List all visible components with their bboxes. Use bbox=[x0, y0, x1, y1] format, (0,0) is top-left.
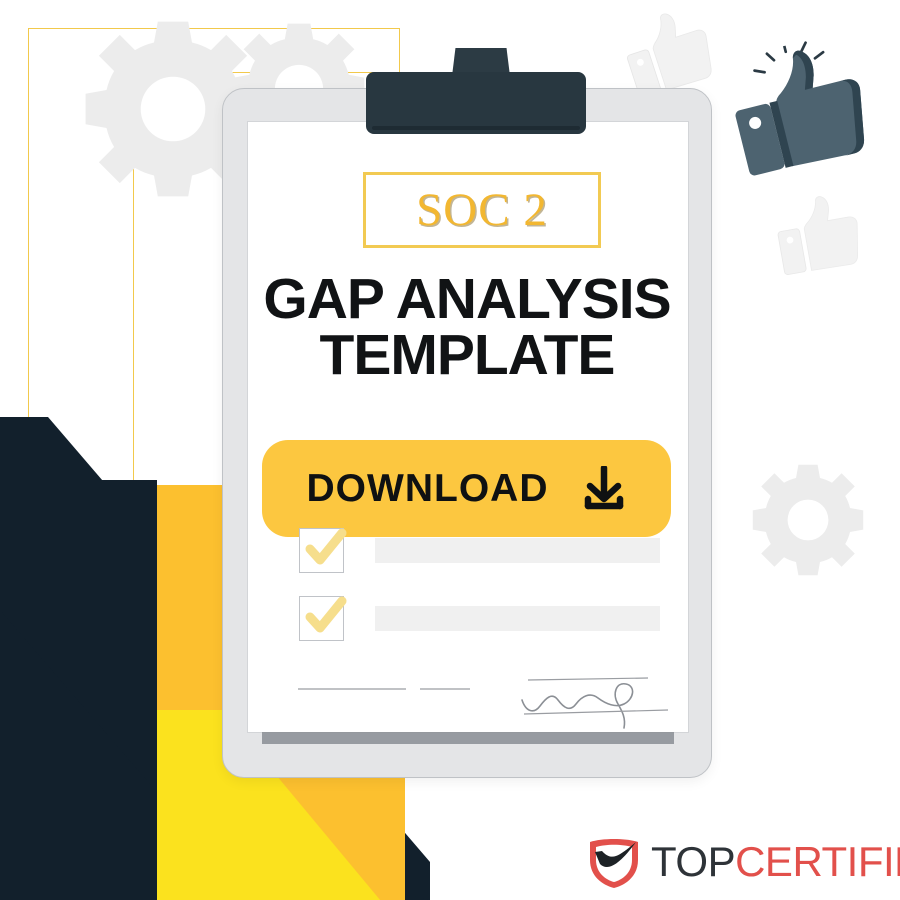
soc2-badge: SOC 2 bbox=[363, 172, 601, 248]
soc2-badge-label: SOC 2 bbox=[416, 183, 548, 237]
placeholder-bar bbox=[375, 538, 660, 563]
page-title-line-2: TEMPLATE bbox=[246, 328, 688, 384]
brand-logo[interactable]: TOPCERTIFIER bbox=[586, 834, 900, 890]
list-item bbox=[299, 528, 660, 573]
download-arrow-icon bbox=[582, 466, 626, 512]
gear-icon bbox=[748, 460, 868, 580]
brand-logo-text: TOPCERTIFIER bbox=[651, 841, 900, 883]
checkbox[interactable] bbox=[299, 596, 344, 641]
page-title-line-1: GAP ANALYSIS bbox=[263, 267, 670, 331]
check-icon bbox=[298, 591, 350, 643]
signature-squiggle-icon bbox=[520, 668, 675, 730]
placeholder-bar bbox=[375, 606, 660, 631]
paper-shadow bbox=[262, 732, 674, 744]
brand-logo-text-secondary: CERTIFIER bbox=[735, 838, 900, 885]
form-lines bbox=[298, 685, 498, 695]
page-title: GAP ANALYSIS TEMPLATE bbox=[246, 272, 688, 384]
thumbs-up-icon bbox=[719, 30, 880, 189]
shield-check-logo-icon bbox=[586, 834, 642, 890]
check-icon bbox=[298, 523, 350, 575]
thumbs-up-icon bbox=[771, 188, 868, 281]
list-item bbox=[299, 596, 660, 641]
clipboard-clip bbox=[366, 72, 586, 134]
checkbox[interactable] bbox=[299, 528, 344, 573]
download-button-label: DOWNLOAD bbox=[307, 467, 549, 511]
brand-logo-text-primary: TOP bbox=[651, 838, 735, 885]
poster-canvas: SOC 2 GAP ANALYSIS TEMPLATE DOWNLOAD bbox=[0, 0, 900, 900]
